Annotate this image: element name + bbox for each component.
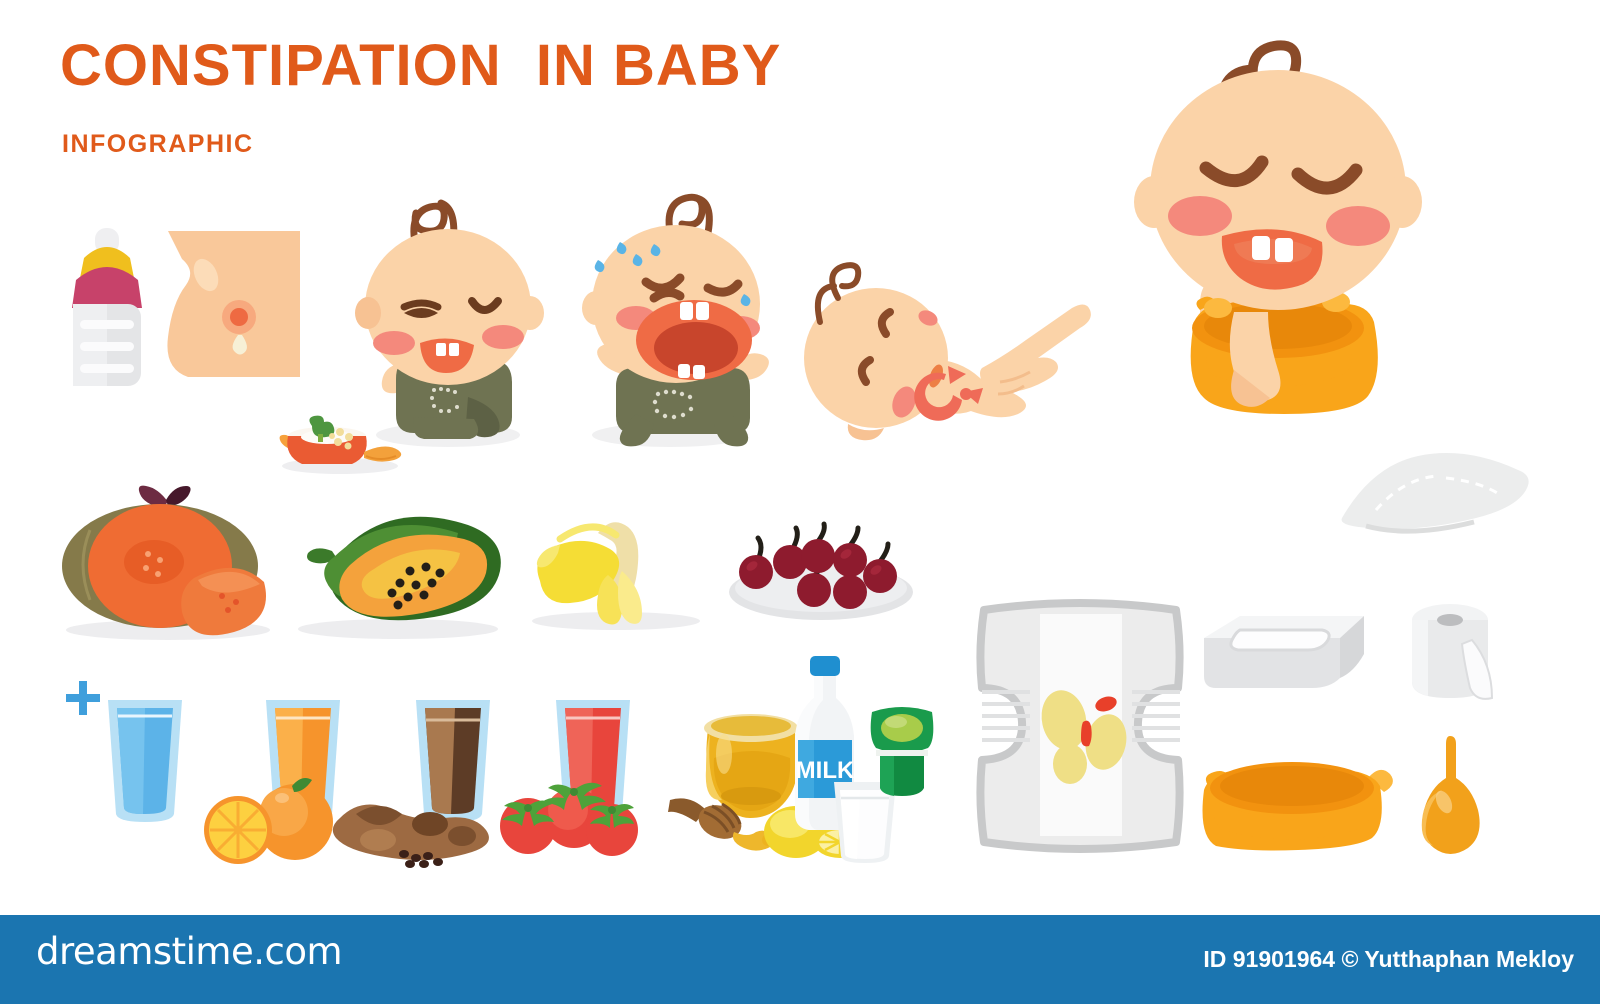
pumpkin [56,480,286,640]
page-title: CONSTIPATION IN BABY [60,36,781,97]
baby-bottle [58,228,156,388]
page-subtitle: INFOGRAPHIC [62,130,254,159]
baby-tummy-massage [786,262,1096,452]
prunes [334,778,494,866]
water-glass [104,694,186,826]
baby-sitting-upset [348,185,548,450]
baby-crying [558,182,778,450]
baby-food-bowl [278,412,408,474]
soiled-diaper [970,600,1190,850]
potty-chair [1196,740,1392,850]
plus-sign [66,681,100,715]
brand-logo-text: dreamstime.com [36,930,342,973]
infographic-canvas: CONSTIPATION IN BABY INFOGRAPHIC [0,0,1600,1004]
wet-wipes-box [1196,610,1376,700]
yogurt-cup [866,700,938,800]
tissue-wipe [1336,448,1536,544]
baby-on-potty [1110,40,1430,490]
brand-logo[interactable]: dreamstime.com [36,930,342,973]
toilet-paper-roll [1398,600,1502,710]
oranges [196,776,342,862]
image-credit: ID 91901964 © Yutthaphan Mekloy [1203,946,1574,973]
cherries-plate [726,518,916,628]
tomatoes [490,766,640,856]
banana [530,505,710,630]
papaya [280,495,510,640]
enema-bulb [1420,736,1486,852]
breastfeeding-breast [168,231,308,381]
